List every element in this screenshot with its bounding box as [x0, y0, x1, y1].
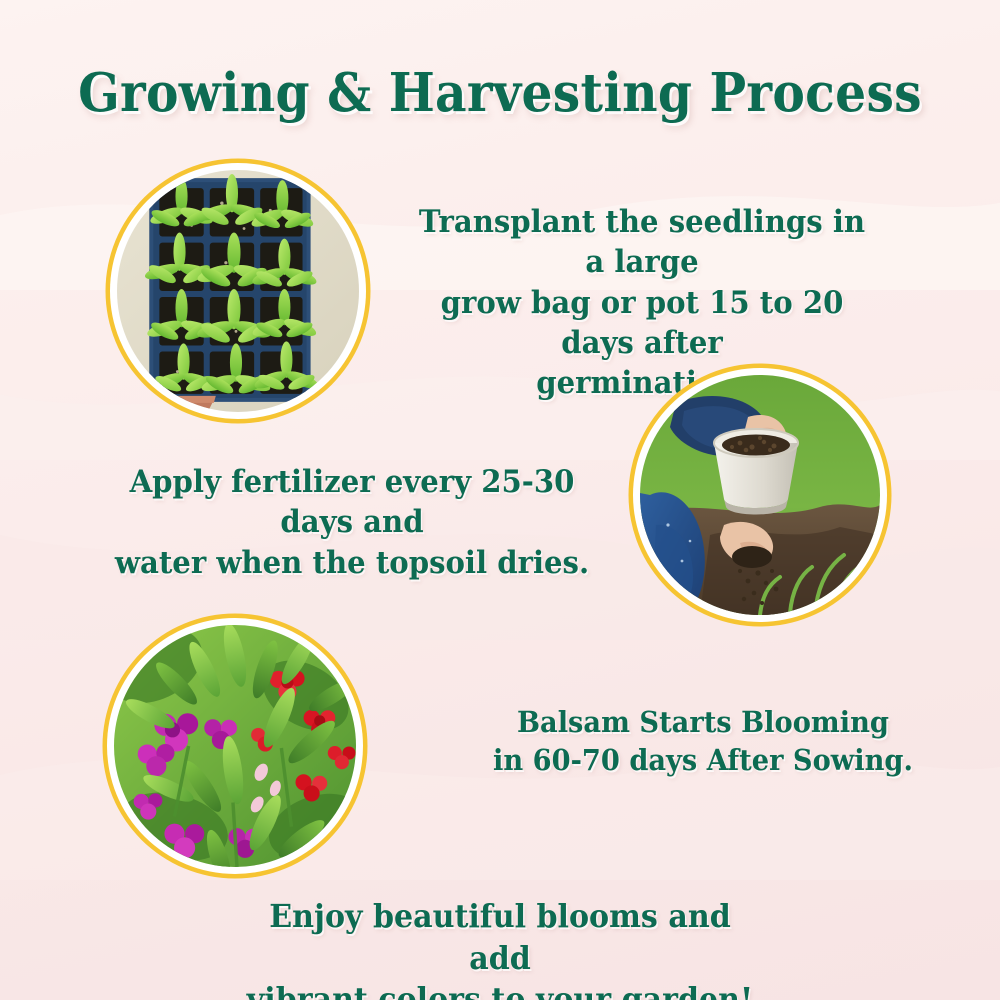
- seedling-tray-photo-clip: [117, 170, 359, 412]
- footer-message-line1: Enjoy beautiful blooms and add: [269, 897, 730, 977]
- infographic-poster: Growing & Harvesting Process: [0, 0, 1000, 1000]
- footer-message-line2: vibrant colors to your garden!: [247, 980, 753, 1000]
- footer-message: Enjoy beautiful blooms and add vibrant c…: [246, 896, 754, 1000]
- caption-fertilize-line2: water when the topsoil dries.: [115, 545, 589, 581]
- caption-bloom-line1: Balsam Starts Blooming: [517, 705, 889, 739]
- page-title: Growing & Harvesting Process: [40, 62, 960, 124]
- blooming-balsam-photo: [107, 618, 363, 874]
- caption-fertilize-line1: Apply fertilizer every 25-30 days and: [130, 464, 575, 540]
- fertilizing-photo: [633, 368, 887, 622]
- caption-bloom: Balsam Starts Blooming in 60-70 days Aft…: [482, 704, 924, 779]
- caption-transplant: Transplant the seedlings in a large grow…: [407, 202, 877, 403]
- fertilizing-photo-clip: [640, 375, 880, 615]
- blooming-balsam-photo-clip: [114, 625, 356, 867]
- caption-bloom-line2: in 60-70 days After Sowing.: [493, 743, 913, 777]
- caption-transplant-line1: Transplant the seedlings in a large: [419, 204, 865, 280]
- caption-transplant-line2: grow bag or pot 15 to 20 days after: [441, 285, 844, 361]
- seedling-tray-photo: [110, 163, 366, 419]
- caption-fertilize: Apply fertilizer every 25-30 days and wa…: [89, 462, 615, 583]
